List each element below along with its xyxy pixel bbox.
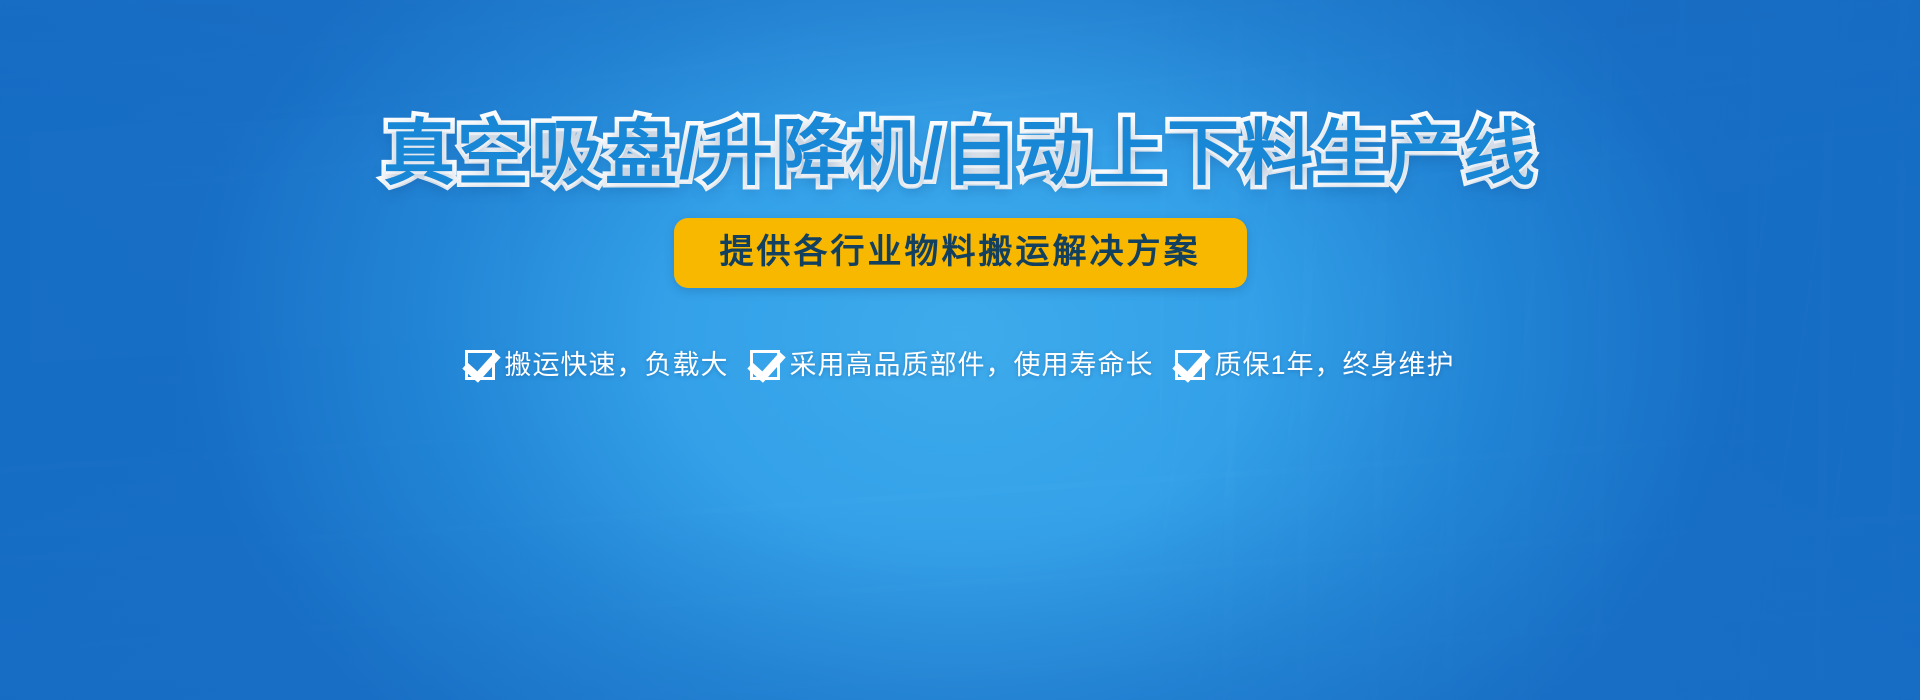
feature-label: 采用高品质部件，使用寿命长 [789, 352, 1153, 379]
feature-item: 搬运快速，负载大 [465, 350, 728, 380]
check-box-icon [465, 350, 495, 380]
promotional-banner: 真空吸盘/升降机/自动上下料生产线 提供各行业物料搬运解决方案 搬运快速，负载大… [0, 0, 1920, 700]
feature-label: 搬运快速，负载大 [504, 352, 728, 379]
feature-item: 质保1年，终身维护 [1175, 350, 1454, 380]
feature-list: 搬运快速，负载大 采用高品质部件，使用寿命长 质保1年，终身维护 [465, 350, 1454, 380]
check-box-icon [750, 350, 780, 380]
check-box-icon [1175, 350, 1205, 380]
feature-item: 采用高品质部件，使用寿命长 [750, 350, 1153, 380]
banner-headline: 真空吸盘/升降机/自动上下料生产线 [383, 118, 1537, 190]
banner-subtitle-pill: 提供各行业物料搬运解决方案 [674, 218, 1247, 288]
feature-label: 质保1年，终身维护 [1214, 352, 1454, 379]
banner-content: 真空吸盘/升降机/自动上下料生产线 提供各行业物料搬运解决方案 搬运快速，负载大… [0, 0, 1920, 700]
